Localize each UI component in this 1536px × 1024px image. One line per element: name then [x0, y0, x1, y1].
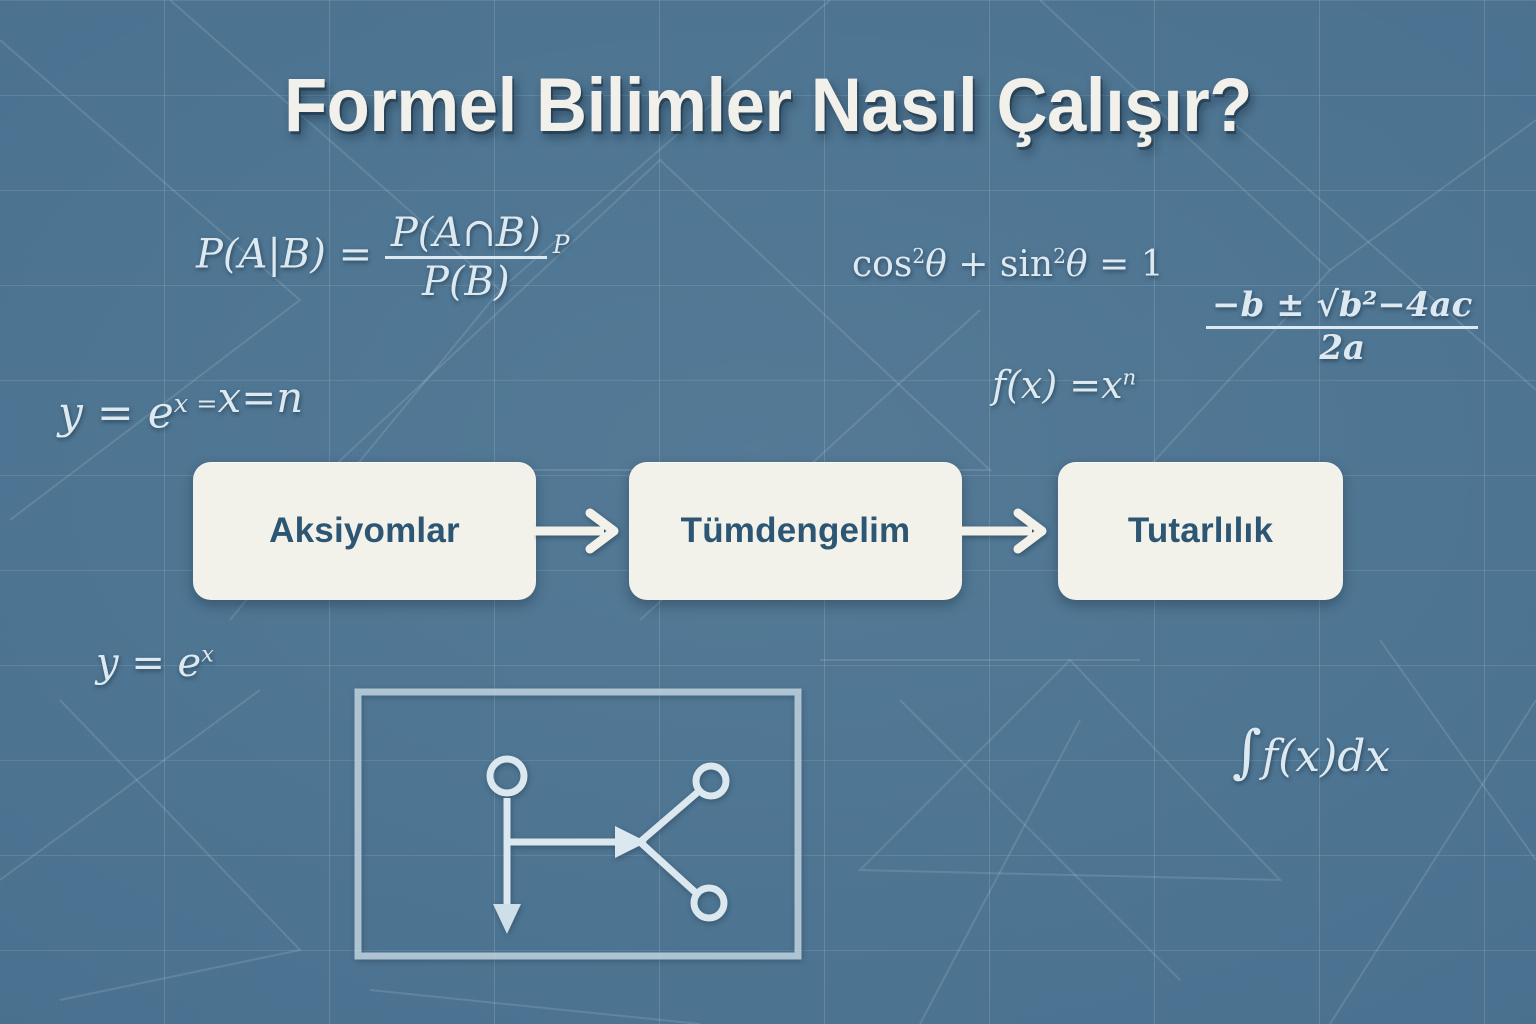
- flow-box-aksiyomlar[interactable]: Aksiyomlar: [193, 462, 536, 600]
- formula-power-exponent: n: [1123, 365, 1137, 390]
- formula-theta-1: θ: [925, 244, 947, 285]
- arrowhead-down-icon: [493, 904, 521, 934]
- formula-bayes-numerator: P(A∩B): [385, 212, 547, 256]
- formula-quadratic: −b ± √b²−4ac 2a: [1206, 288, 1478, 366]
- formula-integral-body: f(x)dx: [1262, 731, 1390, 782]
- formula-exponential-nested-exp1: x =: [174, 389, 218, 419]
- formula-exponential-simple-base: y = e: [96, 640, 201, 686]
- formula-sin-label: sin: [1000, 244, 1053, 285]
- formula-exponential-nested: y = ex =x=n: [58, 376, 303, 437]
- formula-bayes-stray-superscript: P: [553, 230, 570, 259]
- formula-power-base: x: [1101, 363, 1122, 407]
- formula-cos-exponent: 2: [912, 244, 925, 268]
- formula-identity-value: 1: [1141, 244, 1164, 285]
- edge-branch-upper: [640, 792, 698, 842]
- arrow-svg: [534, 505, 628, 557]
- formula-bayes-denominator: P(B): [385, 256, 547, 303]
- arrowhead-right-icon: [615, 826, 647, 858]
- formula-exponential-nested-exp2: x=n: [218, 373, 304, 422]
- formula-theta-2: θ: [1066, 244, 1088, 285]
- flow-box-label: Tümdengelim: [681, 511, 911, 551]
- arrow-right-icon: [534, 505, 628, 557]
- formula-quadratic-fraction: −b ± √b²−4ac 2a: [1206, 288, 1478, 366]
- formula-power-lhs: f(x) =: [992, 363, 1101, 407]
- poster-canvas: Formel Bilimler Nasıl Çalışır? P(A|B) = …: [0, 0, 1536, 1024]
- formula-quadratic-numerator: −b ± √b²−4ac: [1206, 288, 1478, 326]
- integral-sign-icon: ∫: [1232, 719, 1262, 785]
- formula-bayes-fraction: P(A∩B) P(B): [385, 212, 547, 303]
- formula-exponential-simple-exponent: x: [201, 642, 214, 668]
- formula-power-function: f(x) =xn: [992, 366, 1136, 406]
- formula-equals-sign: =: [1099, 244, 1129, 285]
- formula-sin-exponent: 2: [1053, 244, 1066, 268]
- node-diagram-svg: [340, 676, 815, 972]
- formula-bayes-theorem: P(A|B) = P(A∩B) P(B) P: [196, 212, 569, 303]
- node-branch-lower-right: [694, 888, 724, 918]
- flow-box-label: Tutarlılık: [1128, 511, 1273, 551]
- flow-box-tumdengelim[interactable]: Tümdengelim: [629, 462, 962, 600]
- formula-cos-label: cos: [852, 244, 912, 285]
- formula-quadratic-denominator: 2a: [1206, 326, 1478, 367]
- flow-box-label: Aksiyomlar: [269, 511, 460, 551]
- node-diagram: [340, 676, 815, 972]
- node-source-top: [490, 759, 524, 793]
- formula-pythagorean-identity: cos2θ + sin2θ = 1: [852, 246, 1164, 284]
- formula-exponential-nested-base: y = e: [58, 388, 174, 439]
- edge-branch-lower: [640, 842, 695, 892]
- formula-exponential-simple: y = ex: [96, 642, 214, 684]
- formula-integral: ∫f(x)dx: [1232, 722, 1390, 782]
- node-branch-upper-right: [696, 766, 726, 796]
- arrow-right-icon: [962, 505, 1056, 557]
- diagram-frame: [358, 692, 798, 956]
- formula-bayes-lhs: P(A|B) =: [196, 232, 372, 278]
- arrow-svg: [962, 505, 1056, 557]
- page-title: Formel Bilimler Nasıl Çalışır?: [54, 62, 1482, 149]
- formula-plus-sign: +: [958, 244, 988, 285]
- flow-box-tutarlilik[interactable]: Tutarlılık: [1058, 462, 1343, 600]
